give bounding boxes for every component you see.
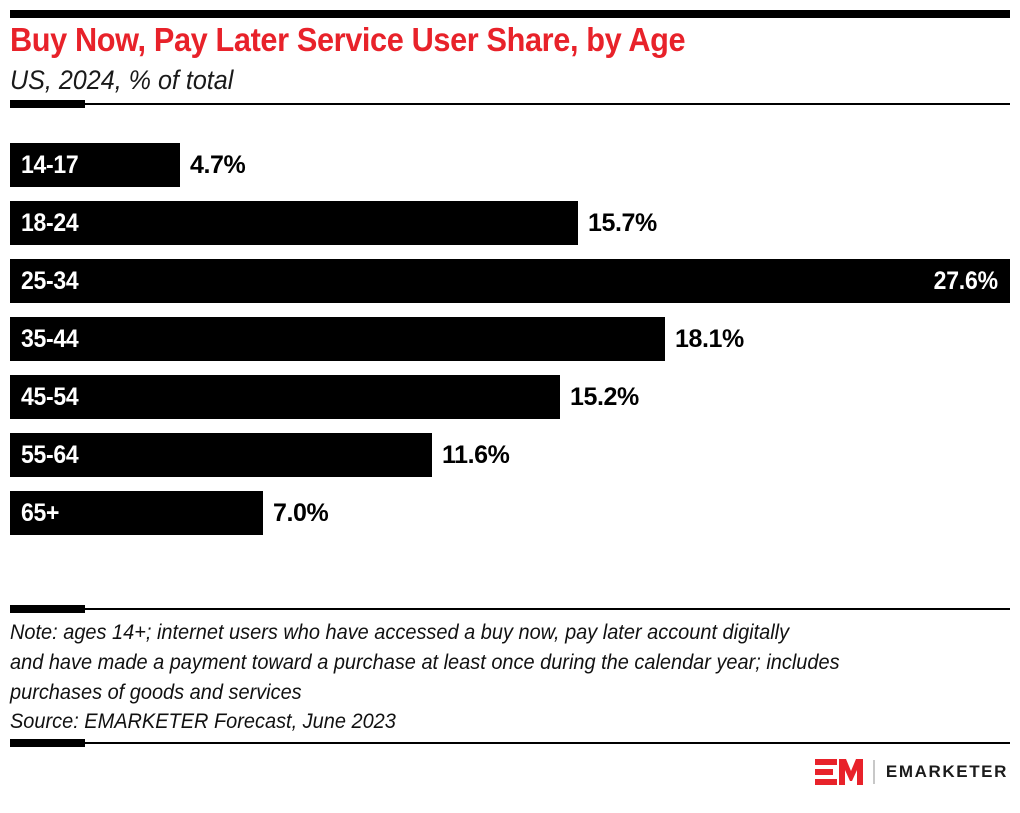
bar-row: 35-44 18.1% — [10, 317, 1010, 361]
bar-value-label: 15.2% — [560, 375, 639, 419]
bar-row: 55-64 11.6% — [10, 433, 1010, 477]
bar-row: 45-54 15.2% — [10, 375, 1010, 419]
bar-category-label: 45-54 — [21, 383, 78, 412]
subtitle-rule — [10, 103, 1010, 105]
chart-page: Buy Now, Pay Later Service User Share, b… — [0, 0, 1020, 813]
bottom-rule — [10, 742, 1010, 744]
logo-divider — [873, 760, 875, 784]
emarketer-logo: EMARKETER — [815, 757, 1008, 787]
bar-value-label: 27.6% — [934, 267, 998, 296]
bar-category-label: 25-34 — [21, 267, 78, 296]
bar-row: 25-34 27.6% — [10, 259, 1010, 303]
bar-14-17: 14-17 — [10, 143, 180, 187]
bar-value-label: 7.0% — [263, 491, 328, 535]
bar-18-24: 18-24 — [10, 201, 578, 245]
bar-row: 18-24 15.7% — [10, 201, 1010, 245]
logo-wordmark: EMARKETER — [886, 762, 1008, 782]
emarketer-logo-mark — [815, 759, 863, 785]
bar-chart-plot: 14-17 4.7% 18-24 15.7% 25-34 27.6% 35-44… — [10, 143, 1010, 549]
rule-accent-segment — [10, 605, 85, 613]
note-line-1: Note: ages 14+; internet users who have … — [10, 618, 960, 648]
page-title: Buy Now, Pay Later Service User Share, b… — [10, 22, 940, 59]
bar-category-label: 18-24 — [21, 209, 78, 238]
bar-25-34: 25-34 27.6% — [10, 259, 1010, 303]
bar-category-label: 55-64 — [21, 441, 78, 470]
note-rule — [10, 608, 1010, 610]
bar-row: 65+ 7.0% — [10, 491, 1010, 535]
bar-category-label: 35-44 — [21, 325, 78, 354]
chart-header: Buy Now, Pay Later Service User Share, b… — [10, 22, 1010, 96]
note-line-2: and have made a payment toward a purchas… — [10, 648, 960, 678]
bar-value-label: 11.6% — [432, 433, 510, 477]
chart-notes: Note: ages 14+; internet users who have … — [10, 618, 1010, 737]
bar-category-label: 14-17 — [21, 151, 78, 180]
chart-subtitle: US, 2024, % of total — [10, 65, 940, 96]
note-line-3: purchases of goods and services — [10, 678, 960, 708]
source-line: Source: EMARKETER Forecast, June 2023 — [10, 707, 960, 737]
rule-accent-segment — [10, 739, 85, 747]
bar-65-plus: 65+ — [10, 491, 263, 535]
bar-45-54: 45-54 — [10, 375, 560, 419]
rule-accent-segment — [10, 100, 85, 108]
bar-category-label: 65+ — [21, 499, 59, 528]
bar-35-44: 35-44 — [10, 317, 665, 361]
bar-55-64: 55-64 — [10, 433, 432, 477]
bar-value-label: 4.7% — [180, 143, 245, 187]
bar-row: 14-17 4.7% — [10, 143, 1010, 187]
bar-value-label: 18.1% — [665, 317, 744, 361]
top-rule — [10, 10, 1010, 18]
bar-value-label: 15.7% — [578, 201, 657, 245]
